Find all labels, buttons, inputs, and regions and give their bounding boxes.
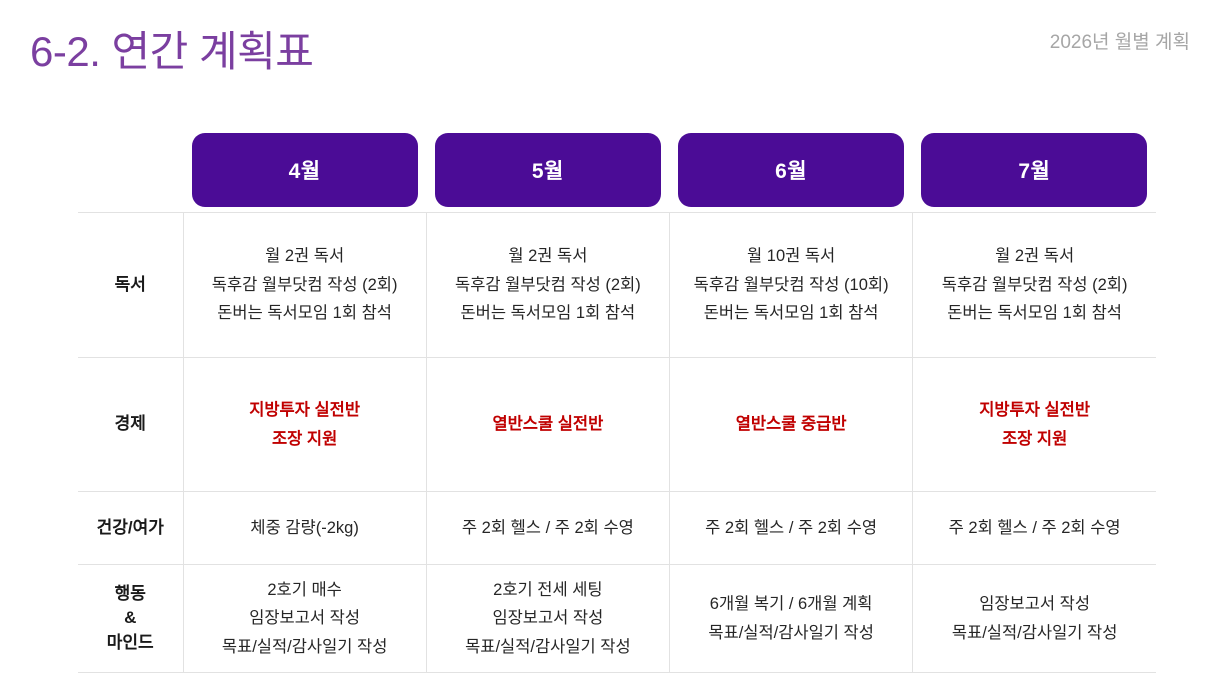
cell-health-april[interactable]: 체중 감량(-2kg) — [183, 492, 426, 565]
month-header-cell-1: 4월 — [183, 132, 426, 208]
cell-text: 6개월 복기 / 6개월 계획 목표/실적/감사일기 작성 — [670, 586, 912, 651]
table-row-economy: 경제 지방투자 실전반 조장 지원 열반스쿨 실전반 열반스쿨 중급반 지방투자… — [78, 358, 1156, 492]
month-pill-4[interactable]: 7월 — [921, 133, 1147, 207]
cell-reading-july[interactable]: 월 2권 독서 독후감 월부닷컴 작성 (2회) 돈버는 독서모임 1회 참석 — [913, 213, 1156, 358]
month-pill-3[interactable]: 6월 — [678, 133, 904, 207]
cell-action-may[interactable]: 2호기 전세 세팅 임장보고서 작성 목표/실적/감사일기 작성 — [426, 565, 669, 673]
cell-text: 주 2회 헬스 / 주 2회 수영 — [427, 510, 669, 546]
month-row-label-spacer — [78, 132, 183, 208]
month-header-cell-2: 5월 — [426, 132, 669, 208]
month-pill-2[interactable]: 5월 — [435, 133, 661, 207]
row-label-reading: 독서 — [78, 213, 183, 358]
cell-economy-may[interactable]: 열반스쿨 실전반 — [426, 358, 669, 492]
month-header-row: 4월 5월 6월 7월 — [78, 132, 1156, 208]
row-label-economy: 경제 — [78, 358, 183, 492]
cell-action-april[interactable]: 2호기 매수 임장보고서 작성 목표/실적/감사일기 작성 — [183, 565, 426, 673]
cell-text: 월 2권 독서 독후감 월부닷컴 작성 (2회) 돈버는 독서모임 1회 참석 — [913, 238, 1156, 331]
cell-reading-april[interactable]: 월 2권 독서 독후감 월부닷컴 작성 (2회) 돈버는 독서모임 1회 참석 — [183, 213, 426, 358]
cell-text: 임장보고서 작성 목표/실적/감사일기 작성 — [913, 586, 1156, 651]
cell-text: 지방투자 실전반 조장 지원 — [184, 392, 426, 458]
cell-action-july[interactable]: 임장보고서 작성 목표/실적/감사일기 작성 — [913, 565, 1156, 673]
cell-health-july[interactable]: 주 2회 헬스 / 주 2회 수영 — [913, 492, 1156, 565]
month-header-cell-3: 6월 — [670, 132, 913, 208]
slide-header: 6-2. 연간 계획표 2026년 월별 계획 — [0, 0, 1216, 110]
cell-action-june[interactable]: 6개월 복기 / 6개월 계획 목표/실적/감사일기 작성 — [670, 565, 913, 673]
annual-plan-table: 독서 월 2권 독서 독후감 월부닷컴 작성 (2회) 돈버는 독서모임 1회 … — [78, 212, 1156, 673]
cell-text: 월 2권 독서 독후감 월부닷컴 작성 (2회) 돈버는 독서모임 1회 참석 — [184, 238, 426, 331]
row-label-health: 건강/여가 — [78, 492, 183, 565]
cell-text: 열반스쿨 실전반 — [427, 406, 669, 443]
table-row-action-mind: 행동 & 마인드 2호기 매수 임장보고서 작성 목표/실적/감사일기 작성 2… — [78, 565, 1156, 673]
cell-text: 월 2권 독서 독후감 월부닷컴 작성 (2회) 돈버는 독서모임 1회 참석 — [427, 238, 669, 331]
cell-economy-april[interactable]: 지방투자 실전반 조장 지원 — [183, 358, 426, 492]
cell-economy-july[interactable]: 지방투자 실전반 조장 지원 — [913, 358, 1156, 492]
month-pill-1[interactable]: 4월 — [192, 133, 418, 207]
cell-text: 2호기 매수 임장보고서 작성 목표/실적/감사일기 작성 — [184, 572, 426, 665]
cell-text: 월 10권 독서 독후감 월부닷컴 작성 (10회) 돈버는 독서모임 1회 참… — [670, 238, 912, 331]
month-header-cell-4: 7월 — [913, 132, 1156, 208]
cell-text: 지방투자 실전반 조장 지원 — [913, 392, 1156, 458]
table-row-health: 건강/여가 체중 감량(-2kg) 주 2회 헬스 / 주 2회 수영 주 2회… — [78, 492, 1156, 565]
cell-text: 체중 감량(-2kg) — [184, 510, 426, 546]
cell-reading-may[interactable]: 월 2권 독서 독후감 월부닷컴 작성 (2회) 돈버는 독서모임 1회 참석 — [426, 213, 669, 358]
cell-text: 2호기 전세 세팅 임장보고서 작성 목표/실적/감사일기 작성 — [427, 572, 669, 665]
cell-reading-june[interactable]: 월 10권 독서 독후감 월부닷컴 작성 (10회) 돈버는 독서모임 1회 참… — [670, 213, 913, 358]
table-row-reading: 독서 월 2권 독서 독후감 월부닷컴 작성 (2회) 돈버는 독서모임 1회 … — [78, 213, 1156, 358]
page-title: 6-2. 연간 계획표 — [30, 18, 313, 79]
cell-text: 주 2회 헬스 / 주 2회 수영 — [670, 510, 912, 546]
cell-text: 주 2회 헬스 / 주 2회 수영 — [913, 510, 1156, 546]
cell-economy-june[interactable]: 열반스쿨 중급반 — [670, 358, 913, 492]
header-subtitle-note: 2026년 월별 계획 — [1050, 27, 1190, 54]
cell-text: 열반스쿨 중급반 — [670, 406, 912, 443]
cell-health-june[interactable]: 주 2회 헬스 / 주 2회 수영 — [670, 492, 913, 565]
cell-health-may[interactable]: 주 2회 헬스 / 주 2회 수영 — [426, 492, 669, 565]
row-label-action-mind: 행동 & 마인드 — [78, 565, 183, 673]
